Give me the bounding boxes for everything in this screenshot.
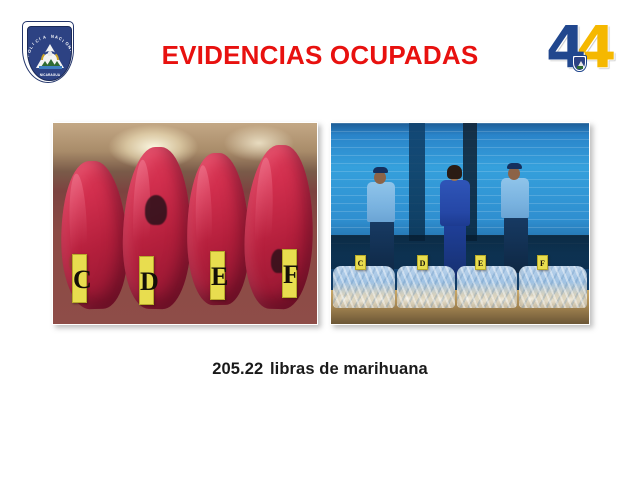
police-officer-figure — [499, 163, 539, 275]
detained-person-figure — [438, 165, 472, 281]
anniversary-mini-shield-icon — [572, 55, 587, 72]
evidence-marker: F — [537, 255, 548, 270]
seizure-pile — [457, 266, 517, 308]
evidence-marker: E — [210, 251, 225, 300]
seizure-pile — [519, 266, 587, 308]
wall-pillar — [409, 123, 425, 241]
seizure-pile — [333, 266, 395, 308]
evidence-marker: D — [139, 256, 154, 305]
coa-liberty-cap — [48, 51, 52, 56]
detainee-top — [440, 180, 470, 226]
anniversary-44-logo: 4 4 — [546, 24, 618, 82]
evidence-caption: 205.22 libras de marihuana — [0, 360, 640, 379]
mini-coa-base — [577, 66, 583, 69]
evidence-marker: C — [72, 254, 87, 303]
officer-torso — [501, 178, 529, 218]
officer-legs — [504, 217, 528, 273]
police-national-shield-icon: POLICIA NACIONAL NICARAGUA — [22, 21, 74, 83]
page-title: EVIDENCIAS OCUPADAS — [110, 40, 530, 71]
mini-shield-field — [574, 57, 585, 70]
officer-cap — [373, 167, 388, 173]
shield-field: POLICIA NACIONAL NICARAGUA — [27, 26, 72, 81]
nicaragua-coat-of-arms-icon — [36, 44, 65, 70]
evidence-marker: D — [417, 255, 428, 270]
shield-outline: POLICIA NACIONAL NICARAGUA — [22, 21, 74, 83]
evidence-photo-officers: C D E F — [330, 122, 590, 325]
officer-torso — [367, 182, 395, 222]
sack-tie — [145, 195, 167, 225]
shield-bottom-text: NICARAGUA — [28, 73, 72, 77]
caption-amount: 205.22 — [212, 360, 263, 378]
detainee-hair — [447, 165, 462, 179]
coa-water — [39, 66, 62, 70]
evidence-marker: C — [355, 255, 366, 270]
seizure-pile — [397, 266, 455, 308]
evidence-marker: F — [282, 249, 297, 298]
caption-text: libras de marihuana — [270, 360, 428, 378]
officer-cap — [507, 163, 522, 169]
shield-arc-char: N — [50, 33, 54, 39]
shield-arc-char: A — [42, 33, 46, 39]
police-officer-figure — [367, 167, 407, 275]
slide-header: POLICIA NACIONAL NICARAGUA EVIDENCIAS OC… — [0, 0, 640, 110]
evidence-photo-sacks: C D E F — [52, 122, 318, 325]
evidence-marker: E — [475, 255, 486, 270]
